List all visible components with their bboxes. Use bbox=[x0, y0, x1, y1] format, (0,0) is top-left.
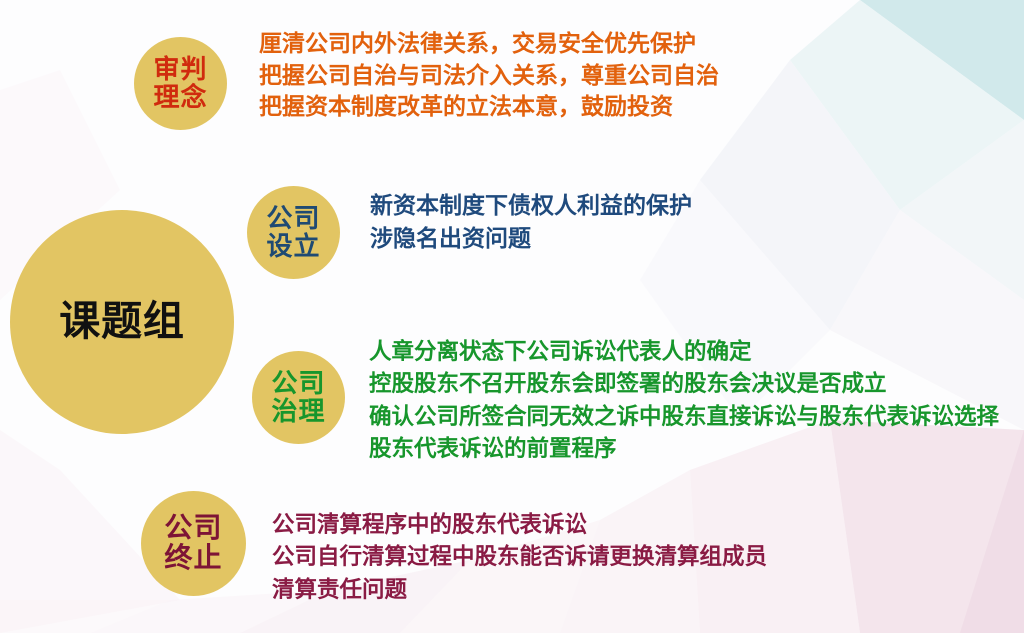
main-circle[interactable]: 课题组 bbox=[10, 210, 234, 434]
branch-text-company-establishment: 新资本制度下债权人利益的保护 涉隐名出资问题 bbox=[370, 190, 692, 255]
branch-circle-corporate-governance[interactable]: 公司 治理 bbox=[252, 351, 345, 444]
branch-text-line: 厘清公司内外法律关系，交易安全优先保护 bbox=[259, 28, 719, 60]
main-circle-label: 课题组 bbox=[59, 300, 184, 343]
branch-circle-line-2: 设立 bbox=[266, 233, 320, 261]
branch-text-line: 确认公司所签合同无效之诉中股东直接诉讼与股东代表诉讼选择 bbox=[369, 401, 999, 433]
branch-circle-trial-concept[interactable]: 审判 理念 bbox=[134, 37, 227, 130]
branch-text-company-termination: 公司清算程序中的股东代表诉讼 公司自行清算过程中股东能否诉请更换清算组成员 清算… bbox=[272, 509, 767, 606]
branch-text-line: 控股股东不召开股东会即签署的股东会决议是否成立 bbox=[369, 368, 999, 400]
branch-text-line: 把握资本制度改革的立法本意，鼓励投资 bbox=[259, 91, 719, 123]
branch-circle-company-establishment[interactable]: 公司 设立 bbox=[247, 186, 340, 279]
branch-text-line: 公司清算程序中的股东代表诉讼 bbox=[272, 509, 767, 541]
branch-circle-line-1: 公司 bbox=[266, 205, 320, 233]
branch-circle-line-2: 治理 bbox=[271, 398, 325, 426]
branch-text-line: 公司自行清算过程中股东能否诉请更换清算组成员 bbox=[272, 541, 767, 573]
branch-text-trial-concept: 厘清公司内外法律关系，交易安全优先保护 把握公司自治与司法介入关系，尊重公司自治… bbox=[259, 28, 719, 123]
slide-canvas: 课题组 审判 理念 厘清公司内外法律关系，交易安全优先保护 把握公司自治与司法介… bbox=[0, 0, 1024, 633]
branch-text-line: 股东代表诉讼的前置程序 bbox=[369, 433, 999, 465]
branch-circle-line-2: 终止 bbox=[164, 544, 222, 574]
branch-circle-line-1: 审判 bbox=[153, 56, 207, 84]
branch-text-line: 人章分离状态下公司诉讼代表人的确定 bbox=[369, 336, 999, 368]
branch-text-corporate-governance: 人章分离状态下公司诉讼代表人的确定 控股股东不召开股东会即签署的股东会决议是否成… bbox=[369, 336, 999, 466]
branch-text-line: 清算责任问题 bbox=[272, 574, 767, 606]
branch-text-line: 把握公司自治与司法介入关系，尊重公司自治 bbox=[259, 60, 719, 92]
branch-circle-line-2: 理念 bbox=[153, 84, 207, 112]
branch-circle-company-termination[interactable]: 公司 终止 bbox=[141, 491, 246, 596]
branch-circle-line-1: 公司 bbox=[164, 514, 222, 544]
branch-circle-line-1: 公司 bbox=[271, 370, 325, 398]
branch-text-line: 涉隐名出资问题 bbox=[370, 223, 692, 256]
branch-text-line: 新资本制度下债权人利益的保护 bbox=[370, 190, 692, 223]
